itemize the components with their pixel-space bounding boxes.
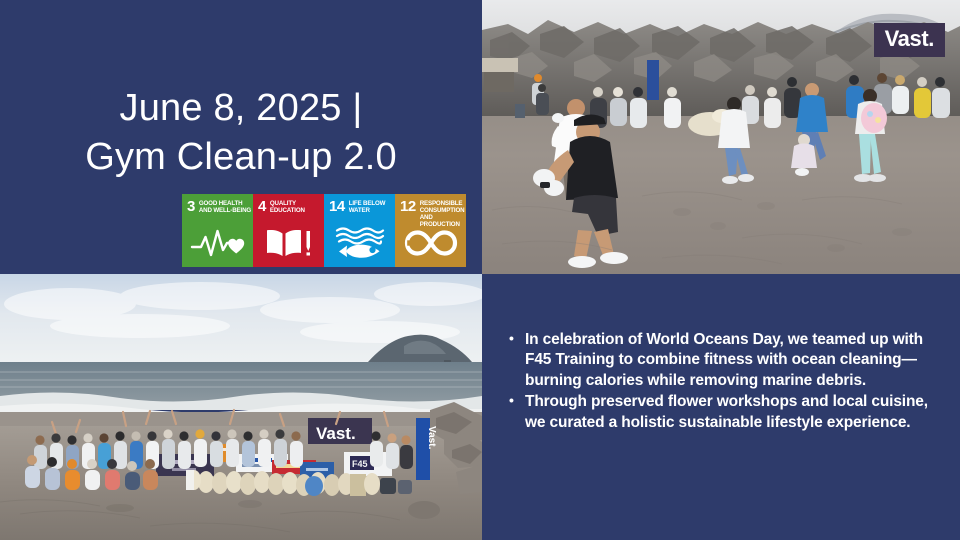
slide-root: June 8, 2025 | Gym Clean-up 2.0 3 Good H… (0, 0, 960, 540)
list-item: In celebration of World Oceans Day, we t… (508, 330, 940, 391)
svg-text:Vast.: Vast. (316, 424, 356, 443)
title-panel: June 8, 2025 | Gym Clean-up 2.0 3 Good H… (0, 0, 482, 274)
infinity-loop-icon (395, 224, 466, 262)
sdg-goal-14: 14 Life Below Water (324, 194, 395, 267)
sdg-goal-4-label: Quality Education (270, 200, 305, 215)
sdg-icon-row: 3 Good Health and Well-being 4 Quality E… (182, 194, 466, 267)
bullet-list: In celebration of World Oceans Day, we t… (508, 330, 940, 434)
bullets-panel: In celebration of World Oceans Day, we t… (482, 274, 960, 540)
list-item: Through preserved flower workshops and l… (508, 392, 940, 433)
sdg-goal-3-header: 3 Good Health and Well-being (182, 194, 253, 215)
sdg-goal-12-number: 12 (400, 200, 416, 214)
page-title: June 8, 2025 | Gym Clean-up 2.0 (0, 84, 482, 183)
sdg-goal-3-label: Good Health and Well-being (199, 200, 251, 215)
sdg-goal-14-label: Life Below Water (349, 200, 386, 215)
fish-waves-icon (324, 224, 395, 262)
sdg-goal-3-number: 3 (187, 200, 195, 214)
svg-text:F45: F45 (352, 459, 368, 469)
open-book-pencil-icon (253, 224, 324, 262)
group-photo: Vast. Vast. F45 (0, 274, 482, 540)
svg-text:Vast.: Vast. (426, 426, 437, 450)
sdg-goal-4-header: 4 Quality Education (253, 194, 324, 215)
sdg-goal-12: 12 Responsible Consumption and Productio… (395, 194, 466, 267)
sdg-goal-14-number: 14 (329, 200, 345, 214)
sdg-goal-4-number: 4 (258, 200, 266, 214)
beach-workout-photo: Vast. (482, 0, 960, 274)
sdg-goal-4: 4 Quality Education (253, 194, 324, 267)
sdg-goal-3: 3 Good Health and Well-being (182, 194, 253, 267)
vast-logo-badge: Vast. (874, 23, 945, 57)
heartbeat-heart-icon (182, 224, 253, 262)
sdg-goal-14-header: 14 Life Below Water (324, 194, 395, 215)
